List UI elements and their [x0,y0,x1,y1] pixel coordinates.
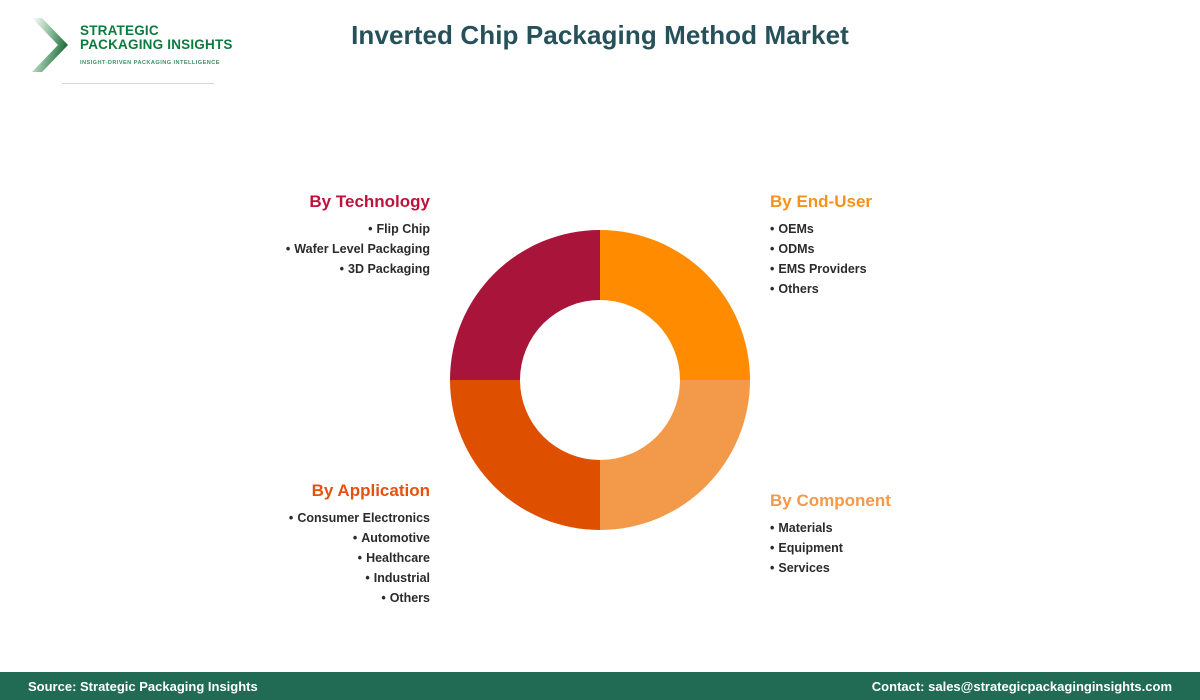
list-item-label: EMS Providers [778,262,866,276]
list-item: •Equipment [770,538,1030,558]
list-item: •Healthcare [180,548,430,568]
donut-chart [450,230,750,530]
page-title: Inverted Chip Packaging Method Market [0,20,1200,51]
bullet-icon: • [368,219,372,239]
list-item-label: Others [390,591,430,605]
list-item: •Consumer Electronics [180,508,430,528]
bullet-icon: • [358,548,362,568]
segment-title-technology: By Technology [180,192,430,212]
footer-bar: Source: Strategic Packaging Insights Con… [0,672,1200,700]
list-item-label: Consumer Electronics [297,511,430,525]
segment-block-enduser: By End-User •OEMs •ODMs •EMS Providers •… [770,192,1030,299]
list-item-label: Others [778,282,818,296]
segment-block-technology: By Technology •Flip Chip •Wafer Level Pa… [180,192,430,279]
list-item-label: Materials [778,521,832,535]
list-item: •Others [180,588,430,608]
list-item-label: Services [778,561,829,575]
bullet-icon: • [770,279,774,299]
bullet-icon: • [770,538,774,558]
donut-segment-technology[interactable] [450,230,600,380]
bullet-icon: • [381,588,385,608]
list-item: •Materials [770,518,1030,538]
donut-segment-component[interactable] [600,380,750,530]
list-item: •EMS Providers [770,259,1030,279]
list-item: •Automotive [180,528,430,548]
list-item: •ODMs [770,239,1030,259]
bullet-icon: • [289,508,293,528]
donut-segment-application[interactable] [450,380,600,530]
list-item: •3D Packaging [180,259,430,279]
footer-contact[interactable]: Contact: sales@strategicpackaginginsight… [872,679,1172,694]
segment-list-application: •Consumer Electronics •Automotive •Healt… [180,508,430,608]
segment-title-enduser: By End-User [770,192,1030,212]
logo-tagline: INSIGHT-DRIVEN PACKAGING INTELLIGENCE [80,60,230,66]
list-item: •Wafer Level Packaging [180,239,430,259]
list-item: •Others [770,279,1030,299]
list-item: •Services [770,558,1030,578]
list-item: •Industrial [180,568,430,588]
bullet-icon: • [770,558,774,578]
logo-divider [62,83,214,84]
bullet-icon: • [770,219,774,239]
bullet-icon: • [340,259,344,279]
segment-list-technology: •Flip Chip •Wafer Level Packaging •3D Pa… [180,219,430,279]
bullet-icon: • [770,259,774,279]
segment-block-component: By Component •Materials •Equipment •Serv… [770,491,1030,578]
segment-title-component: By Component [770,491,1030,511]
donut-segment-enduser[interactable] [600,230,750,380]
list-item-label: 3D Packaging [348,262,430,276]
list-item: •Flip Chip [180,219,430,239]
list-item-label: ODMs [778,242,814,256]
segment-list-component: •Materials •Equipment •Services [770,518,1030,578]
list-item-label: Industrial [374,571,430,585]
bullet-icon: • [286,239,290,259]
list-item-label: Wafer Level Packaging [294,242,430,256]
list-item-label: OEMs [778,222,813,236]
segment-title-application: By Application [180,481,430,501]
list-item-label: Healthcare [366,551,430,565]
list-item-label: Automotive [361,531,430,545]
bullet-icon: • [770,518,774,538]
bullet-icon: • [365,568,369,588]
list-item-label: Flip Chip [377,222,430,236]
bullet-icon: • [770,239,774,259]
segment-list-enduser: •OEMs •ODMs •EMS Providers •Others [770,219,1030,299]
footer-source: Source: Strategic Packaging Insights [28,679,258,694]
bullet-icon: • [353,528,357,548]
list-item-label: Equipment [778,541,843,555]
segment-block-application: By Application •Consumer Electronics •Au… [180,481,430,608]
list-item: •OEMs [770,219,1030,239]
